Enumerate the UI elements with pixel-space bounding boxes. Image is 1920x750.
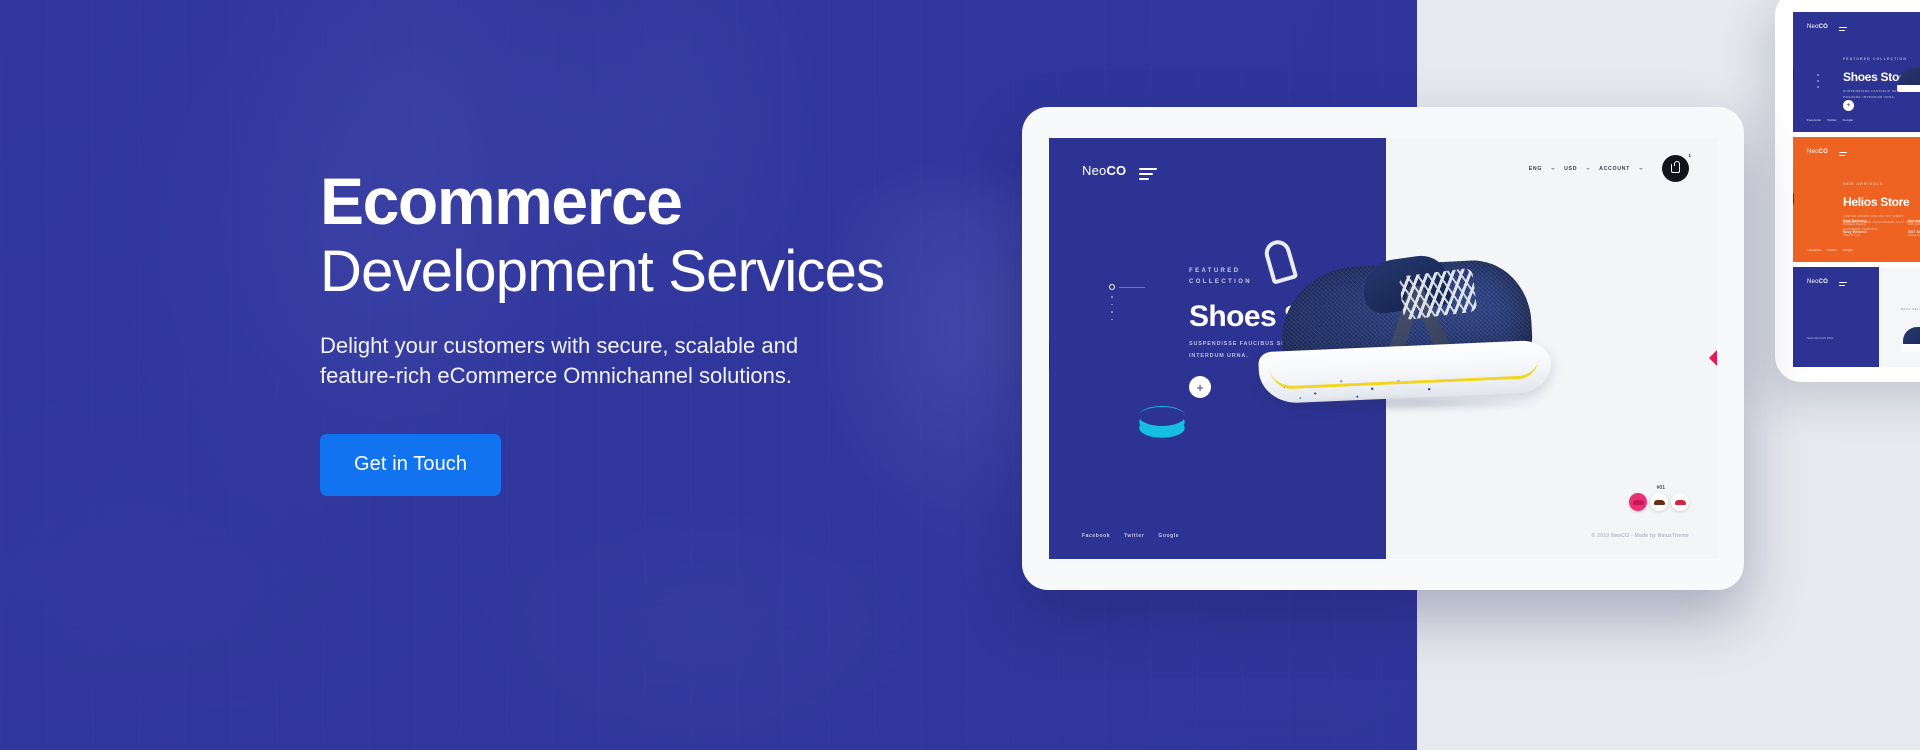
prev-arrow-icon[interactable] (1049, 341, 1050, 371)
mini-feature-item: Fast Delivery Worldwide shipping (1843, 219, 1896, 226)
mini-feature-sub: 100% protected (1908, 223, 1920, 226)
mini-social-twitter[interactable]: Twitter (1827, 118, 1837, 122)
mini-hamburger-icon[interactable] (1839, 27, 1847, 33)
site-logo-suffix: CO (1106, 163, 1126, 178)
mini-screen-helios-store[interactable]: NeoCO NEW ARRIVALS Helios Store LOREM IP… (1793, 137, 1920, 262)
mini-section-label: BEST SELLERS (1901, 307, 1920, 311)
hamburger-menu-icon[interactable] (1139, 168, 1157, 183)
mini-screen-shoes-stock[interactable]: NeoCO FEATURED COLLECTION Shoes Stock SU… (1793, 12, 1920, 132)
mini-logo-prefix: Neo (1807, 149, 1819, 155)
eyebrow-line-1: FEATURED (1189, 266, 1252, 277)
featured-collection-eyebrow: FEATURED COLLECTION (1189, 266, 1252, 289)
slider-tick[interactable] (1111, 304, 1113, 306)
mini-feature-sub: Always online (1908, 234, 1920, 237)
mini-logo-prefix: Neo (1807, 24, 1819, 30)
mini-screen-product-grid[interactable]: NeoCO BEST SELLERS NEW SEASON 2019 (1793, 267, 1920, 367)
nav-item-eng[interactable]: ENG (1529, 166, 1542, 172)
mini-logo: NeoCO (1807, 24, 1828, 30)
color-swatch-row (1629, 493, 1689, 511)
shopping-bag-icon (1671, 164, 1680, 173)
social-link-facebook[interactable]: Facebook (1082, 533, 1110, 539)
color-swatch-brown[interactable] (1650, 493, 1668, 511)
mini-eyebrow: FEATURED COLLECTION (1843, 56, 1907, 62)
mini-feature-item: Easy Returns Within 30 days (1843, 230, 1896, 237)
mini-feature-item: Secure Payment 100% protected (1908, 219, 1920, 226)
social-link-twitter[interactable]: Twitter (1124, 533, 1144, 539)
site-top-nav: ENG USD ACCOUNT (1529, 166, 1643, 172)
shoe-laces (1399, 268, 1478, 321)
social-link-google[interactable]: Google (1158, 533, 1179, 539)
slider-line (1119, 287, 1145, 288)
primary-device-mockup: NeoCO FEATURED COLLECTION Sh (1022, 107, 1744, 590)
mini-social-facebook[interactable]: Facebook (1807, 118, 1821, 122)
mini-plus-button[interactable]: + (1843, 100, 1854, 111)
mini-footnote: NEW SEASON 2019 (1807, 336, 1867, 341)
slider-tick[interactable] (1111, 311, 1113, 313)
chevron-down-icon[interactable] (1551, 168, 1555, 170)
mini-logo-suffix: CO (1819, 279, 1828, 285)
nav-item-usd[interactable]: USD (1564, 166, 1577, 172)
mini-social-links: Facebook Twitter Google (1807, 118, 1853, 122)
mini-eyebrow: NEW ARRIVALS (1843, 181, 1883, 187)
mini-prev-arrow-icon[interactable] (1793, 68, 1794, 80)
site-logo-prefix: Neo (1082, 163, 1106, 178)
secondary-device-mockup: NeoCO FEATURED COLLECTION Shoes Stock SU… (1775, 0, 1920, 382)
primary-device-screen: NeoCO FEATURED COLLECTION Sh (1049, 138, 1717, 559)
mini-social-google[interactable]: Google (1843, 248, 1853, 252)
cart-button[interactable] (1662, 155, 1689, 182)
mini-hamburger-icon[interactable] (1839, 282, 1847, 288)
mini-social-links: Facebook Twitter Google (1807, 248, 1853, 252)
mini-hamburger-icon[interactable] (1839, 152, 1847, 158)
hero-screenshot: Ecommerce Development Services Delight y… (0, 0, 1920, 750)
mini-logo-prefix: Neo (1807, 279, 1819, 285)
slider-dot-active[interactable] (1109, 284, 1115, 290)
mini-social-facebook[interactable]: Facebook (1807, 248, 1821, 252)
next-arrow-label: NEXT (1716, 346, 1717, 357)
mini-blue-block (1793, 267, 1879, 367)
slider-tick[interactable] (1111, 296, 1113, 298)
mini-logo: NeoCO (1807, 279, 1828, 285)
mini-feature-grid: Fast Delivery Worldwide shipping Secure … (1843, 219, 1920, 237)
hero-copy-block: Ecommerce Development Services Delight y… (320, 168, 980, 496)
cart-count-badge: 1 (1689, 153, 1691, 158)
site-right-panel: ENG USD ACCOUNT 1 (1386, 138, 1717, 559)
cyan-wave-decoration (1139, 406, 1185, 426)
site-logo[interactable]: NeoCO (1082, 163, 1126, 178)
mini-social-google[interactable]: Google (1843, 118, 1853, 122)
chevron-down-icon[interactable] (1639, 168, 1643, 170)
mini-prev-arrow-icon[interactable] (1793, 193, 1794, 205)
mini-logo-suffix: CO (1819, 24, 1828, 30)
get-in-touch-button[interactable]: Get in Touch (320, 434, 501, 496)
mini-feature-sub: Within 30 days (1843, 234, 1896, 237)
next-arrow-icon[interactable] (1709, 336, 1717, 380)
color-swatch-pink[interactable] (1629, 493, 1647, 511)
mini-slider-rail (1817, 74, 1819, 92)
page-title-strong: Ecommerce (320, 168, 980, 234)
mini-feature-sub: Worldwide shipping (1843, 223, 1896, 226)
mini-logo: NeoCO (1807, 149, 1828, 155)
slider-rail (1109, 284, 1115, 320)
plus-button[interactable]: + (1189, 376, 1211, 398)
chevron-down-icon[interactable] (1586, 168, 1590, 170)
nav-item-account[interactable]: ACCOUNT (1599, 166, 1630, 172)
mini-shoe-image (1903, 327, 1920, 347)
color-swatch-red[interactable] (1671, 493, 1689, 511)
mini-social-twitter[interactable]: Twitter (1827, 248, 1837, 252)
slider-tick[interactable] (1111, 319, 1113, 321)
secondary-device-screen: NeoCO FEATURED COLLECTION Shoes Stock SU… (1793, 12, 1920, 367)
hero-subtitle: Delight your customers with secure, scal… (320, 331, 820, 392)
swatch-count-label: #01 (1657, 485, 1665, 491)
mini-feature-item: 24/7 Support Always online (1908, 230, 1920, 237)
mini-title: Helios Store (1843, 195, 1909, 209)
shoe-drop-shadow (1287, 398, 1537, 410)
eyebrow-line-2: COLLECTION (1189, 277, 1252, 288)
page-title-light: Development Services (320, 240, 980, 305)
site-social-links: Facebook Twitter Google (1082, 533, 1179, 539)
mini-logo-suffix: CO (1819, 149, 1828, 155)
product-shoe-artwork (1251, 256, 1581, 431)
site-copyright: © 2019 NeoCO - Made by NinusTheme (1591, 533, 1689, 539)
